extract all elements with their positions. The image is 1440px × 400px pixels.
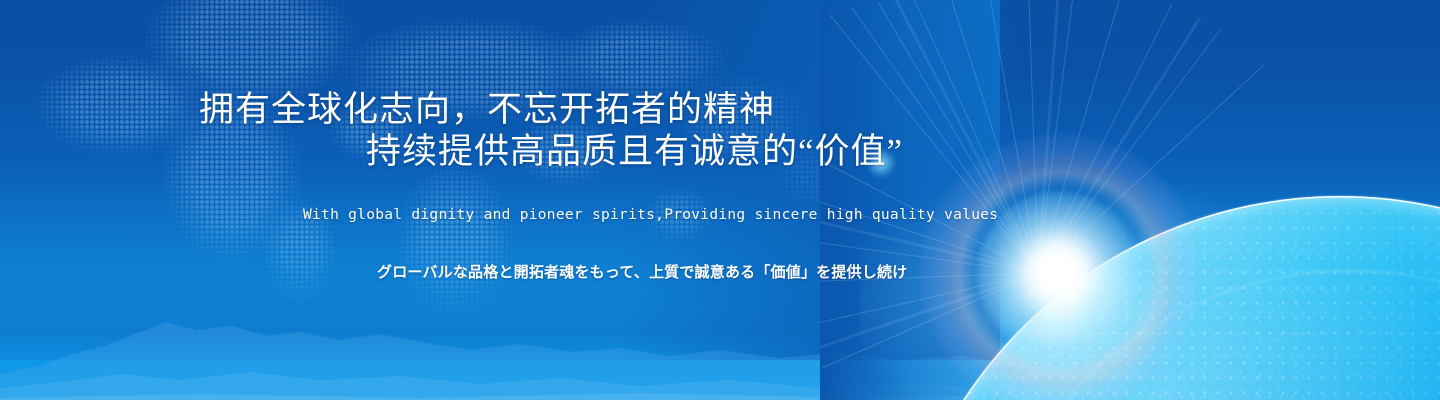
subtitle-japanese: グローバルな品格と開拓者魂をもって、上質で誠意ある「価値」を提供し続け bbox=[377, 261, 907, 282]
page-title-line-1: 拥有全球化志向，不忘开拓者的精神 bbox=[199, 92, 775, 127]
hero-copy: 拥有全球化志向，不忘开拓者的精神 持续提供高品质且有诚意的“价值” With g… bbox=[0, 0, 1440, 400]
corporate-vision-hero-banner: 拥有全球化志向，不忘开拓者的精神 持续提供高品质且有诚意的“价值” With g… bbox=[0, 0, 1440, 400]
subtitle-english: With global dignity and pioneer spirits,… bbox=[303, 207, 998, 223]
page-title-line-2: 持续提供高品质且有诚意的“价值” bbox=[366, 134, 903, 169]
